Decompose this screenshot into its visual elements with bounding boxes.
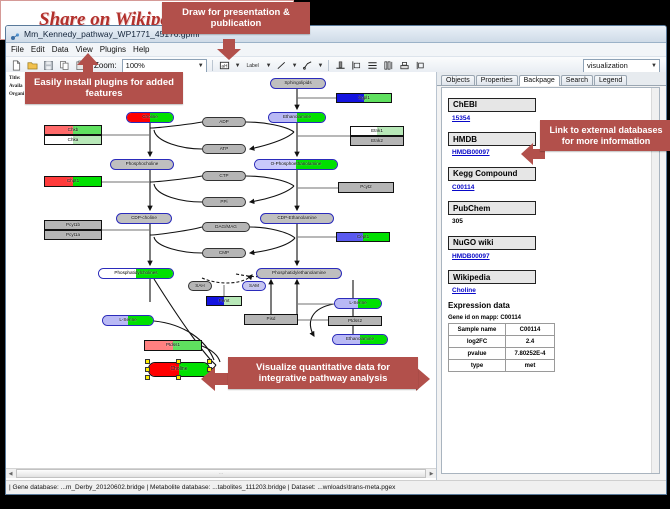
datanode-dropdown-icon[interactable]: ▼ bbox=[235, 63, 241, 69]
pathway-node-ppi[interactable]: PPi bbox=[202, 197, 246, 207]
table-row: Sample name C00114 bbox=[449, 324, 555, 336]
pathway-node-phosphocholine[interactable]: Phosphocholine bbox=[110, 159, 174, 170]
pathway-gene-ptdss2[interactable]: Ptdss2 bbox=[328, 316, 382, 326]
callout-visualize-quantitative-data: Visualize quantitative data for integrat… bbox=[228, 357, 418, 389]
pathway-node-sam[interactable]: SAM bbox=[242, 281, 266, 291]
pathway-gene-pcyt1b[interactable]: Pcyt1b bbox=[44, 220, 102, 230]
pathvisio-icon bbox=[10, 29, 20, 39]
selection-handle[interactable] bbox=[145, 375, 150, 380]
callout-draw-for-publication: Draw for presentation & publication bbox=[162, 2, 310, 34]
cell-key: type bbox=[449, 360, 506, 372]
pathway-node-ctp[interactable]: CTP bbox=[202, 171, 246, 181]
cell-value: C00114 bbox=[506, 324, 555, 336]
selection-handle[interactable] bbox=[145, 359, 150, 364]
toolbar-separator bbox=[212, 60, 213, 71]
pathway-gene-etnk2[interactable]: Etnk2 bbox=[350, 136, 404, 146]
expression-table: Sample name C00114 log2FC 2.4 pvalue 7.8… bbox=[448, 323, 555, 372]
title-bar: Mm_Kennedy_pathway_WP1771_45176.gpml bbox=[6, 26, 666, 43]
pathway-node-choline-top[interactable]: Choline bbox=[126, 112, 174, 123]
backpage-header-wikipedia: Wikipedia bbox=[448, 270, 536, 284]
status-bar: | Gene database: ...m_Derby_20120602.bri… bbox=[6, 480, 666, 494]
menu-bar: File Edit Data View Plugins Help bbox=[6, 43, 666, 57]
pathway-canvas[interactable]: Title: Availa Organi bbox=[6, 72, 436, 478]
label-text: Label bbox=[247, 63, 259, 69]
screenshot-root: Mm_Kennedy_pathway_WP1771_45176.gpml Fil… bbox=[0, 0, 670, 509]
cell-value: 7.80252E-4 bbox=[506, 348, 555, 360]
pathway-gene-ptdss1[interactable]: Ptdss1 bbox=[144, 340, 202, 351]
pathway-gene-pisd[interactable]: Pisd bbox=[244, 314, 298, 325]
scroll-right-icon[interactable]: ▶ bbox=[427, 469, 436, 478]
canvas-pane: Title: Availa Organi bbox=[6, 72, 437, 494]
label-dropdown-icon[interactable]: ▼ bbox=[266, 63, 272, 69]
copy-icon[interactable] bbox=[58, 59, 71, 72]
meta-title: Title: bbox=[9, 76, 21, 81]
pathway-gene-pcyt1a[interactable]: Pcyt1a bbox=[44, 230, 102, 240]
menu-data[interactable]: Data bbox=[52, 45, 69, 54]
pathway-node-phosphatidylcholines[interactable]: Phosphatidylcholines bbox=[98, 268, 174, 279]
zoom-value: 100% bbox=[126, 61, 145, 70]
new-icon[interactable] bbox=[10, 59, 23, 72]
order-icon[interactable] bbox=[414, 59, 427, 72]
pathway-node-cdp-choline[interactable]: CDP-choline bbox=[116, 213, 172, 224]
pathway-node-phosphatidylethanolamine[interactable]: Phosphatidylethanolamine bbox=[256, 268, 342, 279]
scroll-left-icon[interactable]: ◀ bbox=[6, 469, 15, 478]
visualization-value: visualization bbox=[587, 61, 628, 70]
meta-availability: Availa bbox=[9, 84, 23, 89]
scroll-thumb[interactable]: ⋯ bbox=[16, 469, 426, 478]
selection-handle[interactable] bbox=[207, 359, 212, 364]
table-row: pvalue 7.80252E-4 bbox=[449, 348, 555, 360]
pathway-node-l-serine-right[interactable]: L-Serine bbox=[334, 298, 382, 309]
backpage-link-wikipedia[interactable]: Choline bbox=[452, 287, 649, 294]
pathway-node-ethanolamine-top[interactable]: Ethanolamine bbox=[268, 112, 326, 123]
pathway-gene-pcyt2[interactable]: Pcyt2 bbox=[338, 182, 394, 193]
group-icon[interactable] bbox=[398, 59, 411, 72]
pathway-gene-pemt[interactable]: Pemt bbox=[206, 296, 242, 306]
pathway-node-dagmag[interactable]: DAG/MAG bbox=[202, 222, 250, 232]
cell-key: pvalue bbox=[449, 348, 506, 360]
pathway-gene-sgpl1[interactable]: Sgpl1 bbox=[336, 93, 392, 103]
table-row: log2FC 2.4 bbox=[449, 336, 555, 348]
align-left-icon[interactable] bbox=[350, 59, 363, 72]
toolbar-separator bbox=[328, 60, 329, 71]
visualization-combo[interactable]: visualization ▼ bbox=[583, 59, 660, 73]
backpage-link-kegg[interactable]: C00114 bbox=[452, 184, 649, 191]
tab-search[interactable]: Search bbox=[561, 75, 593, 85]
svg-text:aH: aH bbox=[221, 63, 227, 69]
pathway-node-l-serine-left[interactable]: L-Serine bbox=[102, 315, 154, 326]
callout-arrow-down bbox=[216, 39, 242, 61]
chevron-down-icon: ▼ bbox=[198, 63, 204, 69]
zoom-combo[interactable]: 100% ▼ bbox=[122, 59, 207, 73]
side-tabs: Objects Properties Backpage Search Legen… bbox=[437, 72, 666, 86]
save-icon[interactable] bbox=[42, 59, 55, 72]
pathway-node-atp[interactable]: ATP bbox=[202, 144, 246, 154]
backpage-header-kegg: Kegg Compound bbox=[448, 167, 536, 181]
pathway-node-cmp[interactable]: CMP bbox=[202, 248, 246, 258]
backpage-header-pubchem: PubChem bbox=[448, 201, 536, 215]
tab-objects[interactable]: Objects bbox=[441, 75, 475, 85]
pathway-gene-chkb[interactable]: Chkb bbox=[44, 125, 102, 135]
status-text: | Gene database: ...m_Derby_20120602.bri… bbox=[6, 484, 395, 491]
line-icon[interactable] bbox=[275, 59, 288, 72]
expression-data-title: Expression data bbox=[448, 301, 649, 310]
pathway-node-o-phosphoethanolamine[interactable]: O-Phosphoethanolamine bbox=[254, 159, 338, 170]
pathway-gene-chka[interactable]: Chka bbox=[44, 135, 102, 145]
label-icon[interactable]: Label bbox=[244, 59, 262, 72]
backpage-header-chebi: ChEBI bbox=[448, 98, 536, 112]
pathway-node-cdp-ethanolamine[interactable]: CDP-Ethanolamine bbox=[260, 213, 334, 224]
pathway-gene-etnk1[interactable]: Etnk1 bbox=[350, 126, 404, 136]
pathway-node-adp[interactable]: ADP bbox=[202, 117, 246, 127]
pathway-node-ethanolamine-bottom[interactable]: Ethanolamine bbox=[332, 334, 388, 345]
backpage-link-nugo-wiki[interactable]: HMDB00097 bbox=[452, 253, 649, 260]
table-row: type met bbox=[449, 360, 555, 372]
line-dropdown-icon[interactable]: ▼ bbox=[292, 63, 298, 69]
tab-legend[interactable]: Legend bbox=[594, 75, 627, 85]
open-folder-icon[interactable] bbox=[26, 59, 39, 72]
menu-edit[interactable]: Edit bbox=[31, 45, 45, 54]
gene-id-line: Gene id on mapp: C00114 bbox=[448, 315, 649, 321]
pathway-node-sphingolipids[interactable]: Sphingolipids bbox=[270, 78, 326, 89]
callout-external-databases: Link to external databases for more info… bbox=[540, 120, 670, 151]
align-top-icon[interactable] bbox=[334, 59, 347, 72]
canvas-hscrollbar[interactable]: ◀ ⋯ ▶ bbox=[6, 468, 436, 478]
backpage-value-pubchem: 305 bbox=[452, 218, 649, 225]
cell-key: log2FC bbox=[449, 336, 506, 348]
menu-help[interactable]: Help bbox=[133, 45, 149, 54]
same-width-icon[interactable] bbox=[382, 59, 395, 72]
interaction-dropdown-icon[interactable]: ▼ bbox=[318, 63, 324, 69]
stack-vertical-icon[interactable] bbox=[366, 59, 379, 72]
tab-backpage[interactable]: Backpage bbox=[519, 75, 560, 86]
selection-handle[interactable] bbox=[176, 375, 181, 380]
selection-handle[interactable] bbox=[145, 367, 150, 372]
interaction-icon[interactable] bbox=[301, 59, 314, 72]
tab-properties[interactable]: Properties bbox=[476, 75, 518, 85]
cell-key: Sample name bbox=[449, 324, 506, 336]
pathway-gene-chpt1[interactable]: Chpt1 bbox=[44, 176, 102, 187]
selection-handle[interactable] bbox=[176, 359, 181, 364]
pathway-node-sah[interactable]: SAH bbox=[188, 281, 212, 291]
cell-value: met bbox=[506, 360, 555, 372]
menu-plugins[interactable]: Plugins bbox=[100, 45, 126, 54]
cell-value: 2.4 bbox=[506, 336, 555, 348]
meta-organism: Organi bbox=[9, 92, 24, 97]
chevron-down-icon: ▼ bbox=[651, 63, 657, 69]
backpage-header-nugo-wiki: NuGO wiki bbox=[448, 236, 536, 250]
callout-install-plugins: Easily install plugins for added feature… bbox=[25, 72, 183, 104]
pathway-gene-cept1[interactable]: Cept1 bbox=[336, 232, 390, 242]
menu-file[interactable]: File bbox=[11, 45, 24, 54]
callout-arrow-left bbox=[200, 366, 230, 392]
